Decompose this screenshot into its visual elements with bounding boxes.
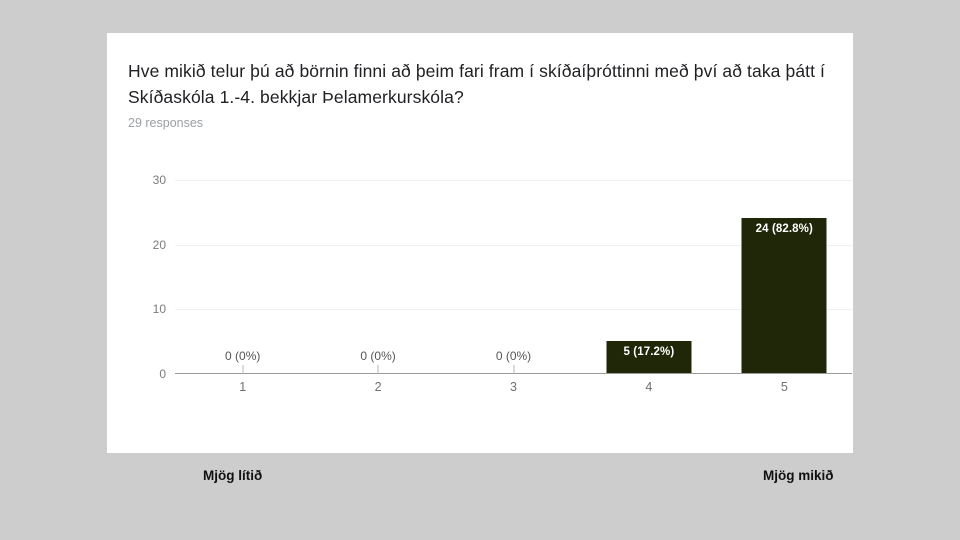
bar-value-label: 0 (0%): [225, 349, 260, 363]
x-axis-tick-label: 1: [239, 380, 246, 394]
bar[interactable]: 5 (17.2%): [606, 341, 691, 373]
scale-caption-high: Mjög mikið: [763, 468, 834, 483]
bar-value-label: 0 (0%): [496, 349, 531, 363]
y-axis-tick-label: 10: [153, 302, 166, 316]
x-axis-tick-label: 2: [375, 380, 382, 394]
bar-value-label: 5 (17.2%): [606, 346, 691, 358]
x-axis-tick-mark: [513, 365, 514, 374]
bar-value-label: 0 (0%): [360, 349, 395, 363]
bar-chart: 010203010 (0%)20 (0%)30 (0%)45 (17.2%)52…: [107, 33, 853, 453]
x-axis-tick-mark: [378, 365, 379, 374]
y-axis-tick-label: 20: [153, 238, 166, 252]
bar-value-label: 24 (82.8%): [742, 223, 827, 235]
x-axis-tick-mark: [242, 365, 243, 374]
y-axis-tick-label: 30: [153, 173, 166, 187]
x-axis-tick-label: 3: [510, 380, 517, 394]
gridline: [175, 180, 852, 181]
x-axis-tick-label: 5: [781, 380, 788, 394]
survey-result-card: Hve mikið telur þú að börnin finni að þe…: [107, 33, 853, 453]
scale-caption-low: Mjög lítið: [203, 468, 262, 483]
chart-plot-area: 010203010 (0%)20 (0%)30 (0%)45 (17.2%)52…: [175, 180, 852, 374]
y-axis-tick-label: 0: [159, 367, 166, 381]
x-axis-tick-label: 4: [645, 380, 652, 394]
bar[interactable]: 24 (82.8%): [742, 218, 827, 373]
